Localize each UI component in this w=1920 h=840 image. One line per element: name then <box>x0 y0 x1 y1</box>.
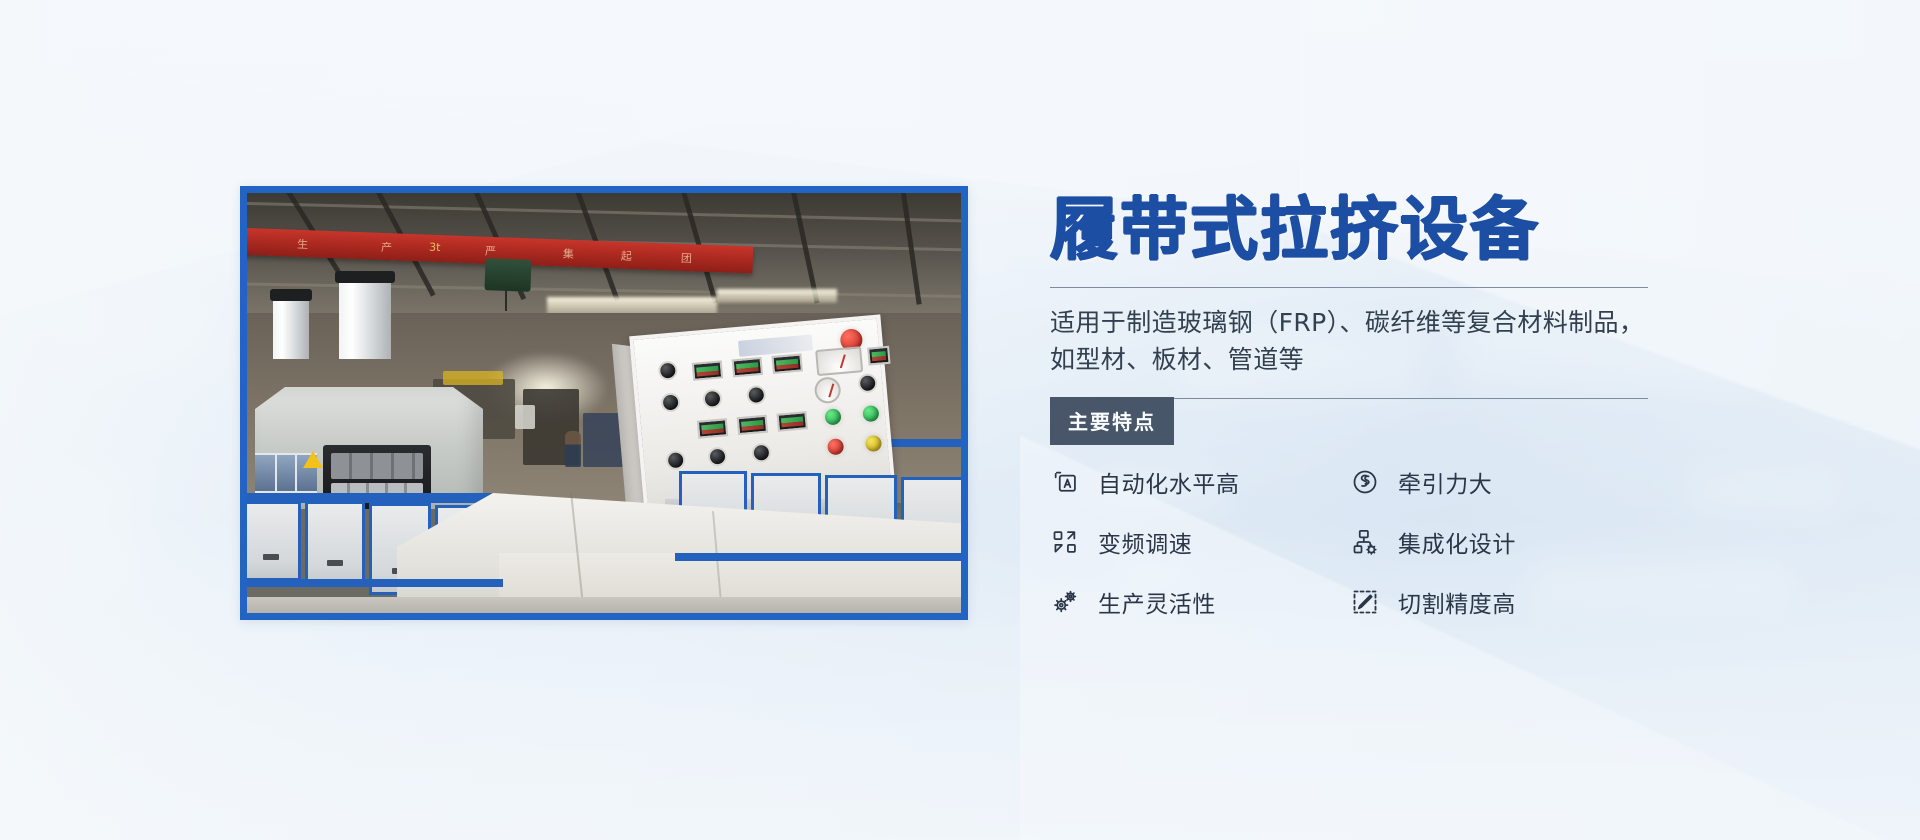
integrated-design-icon <box>1350 527 1380 557</box>
feature-item-precision[interactable]: 切割精度高 <box>1350 585 1650 619</box>
feature-label: 生产灵活性 <box>1098 585 1216 619</box>
automation-panel-icon <box>1050 467 1080 497</box>
feature-item-traction[interactable]: 牵引力大 <box>1350 465 1650 499</box>
product-photo: 生 产 3t 严 集 起 团 <box>247 193 961 613</box>
photo-crane-motor <box>484 258 531 292</box>
product-hero-banner: 生 产 3t 严 集 起 团 <box>0 0 1920 840</box>
feature-list: 自动化水平高 牵引力大 <box>1050 465 1650 619</box>
feature-label: 切割精度高 <box>1398 585 1516 619</box>
feature-label: 变频调速 <box>1098 525 1192 559</box>
feature-item-frequency[interactable]: 变频调速 <box>1050 525 1350 559</box>
photo-crane-hook <box>505 289 507 311</box>
feature-item-automation[interactable]: 自动化水平高 <box>1050 465 1350 499</box>
feature-label: 牵引力大 <box>1398 465 1492 499</box>
feature-label: 自动化水平高 <box>1098 465 1240 499</box>
feature-item-integrated[interactable]: 集成化设计 <box>1350 525 1650 559</box>
page-title: 履带式拉挤设备 <box>1050 196 1650 265</box>
photo-press-machine <box>255 341 483 509</box>
divider-bottom: 主要特点 <box>1050 398 1648 399</box>
photo-worker <box>565 431 581 467</box>
hero-text-content: 履带式拉挤设备 适用于制造玻璃钢（FRP）、碳纤维等复合材料制品，如型材、板材、… <box>1050 196 1650 619</box>
precision-cut-pen-icon <box>1350 587 1380 617</box>
status-badge: 主要特点 <box>1050 397 1174 445</box>
feature-label: 集成化设计 <box>1398 525 1516 559</box>
product-photo-frame: 生 产 3t 严 集 起 团 <box>240 186 968 620</box>
feature-item-flexibility[interactable]: 生产灵活性 <box>1050 585 1350 619</box>
gears-icon <box>1050 587 1080 617</box>
product-description: 适用于制造玻璃钢（FRP）、碳纤维等复合材料制品，如型材、板材、管道等 <box>1050 305 1650 378</box>
frequency-control-icon <box>1050 527 1080 557</box>
traction-wave-circle-icon <box>1350 467 1380 497</box>
divider-top <box>1050 287 1648 288</box>
